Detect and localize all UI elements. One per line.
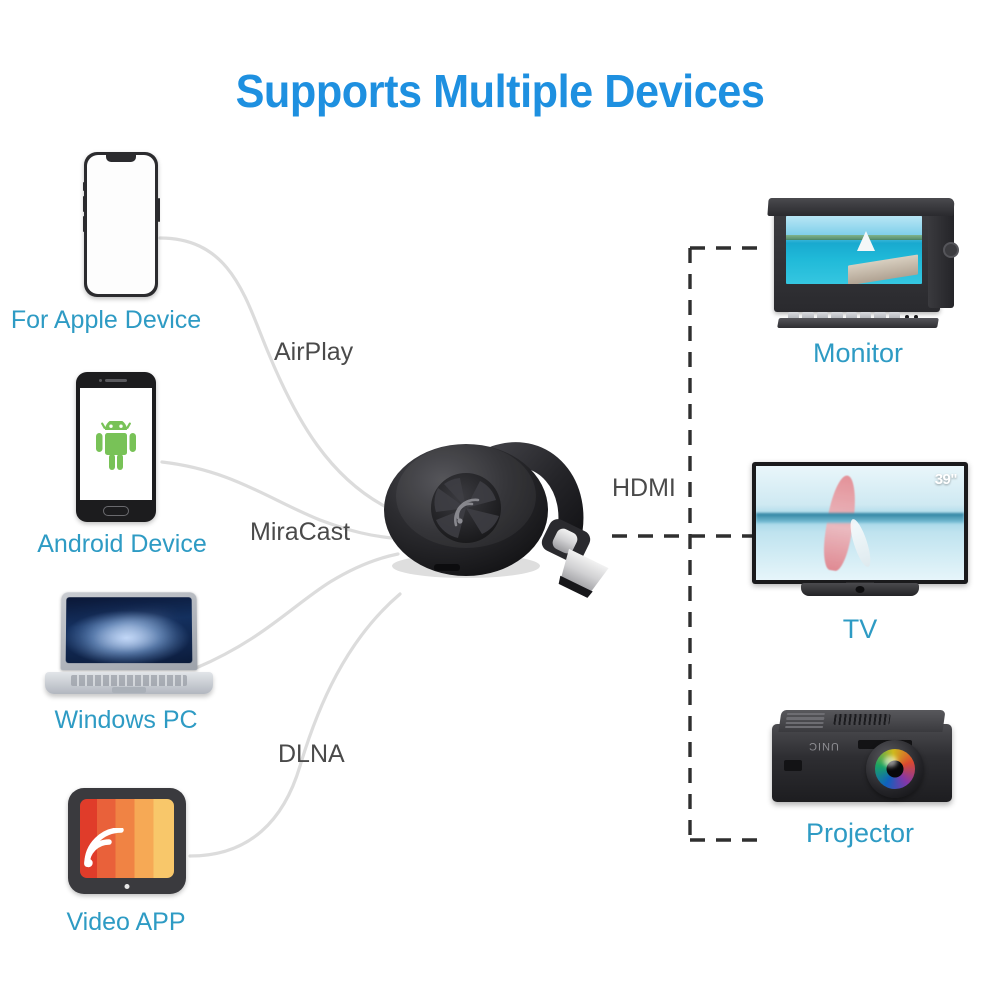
flat-tv-icon: 39" bbox=[752, 462, 968, 610]
tv-size-badge: 39" bbox=[935, 471, 957, 488]
device-label-tv: TV bbox=[752, 614, 968, 645]
device-label-android: Android Device bbox=[16, 530, 228, 559]
android-phone-icon bbox=[76, 372, 156, 522]
projector-brand: UNIC bbox=[808, 740, 839, 752]
mini-projector-icon: UNIC bbox=[772, 710, 952, 814]
protocol-label-miracast: MiraCast bbox=[250, 518, 350, 547]
android-robot-icon bbox=[93, 421, 139, 473]
cast-wifi-icon bbox=[83, 828, 127, 870]
device-label-videoapp: Video APP bbox=[20, 908, 232, 937]
iphone-icon bbox=[84, 152, 158, 297]
wireless-display-dongle bbox=[368, 428, 628, 610]
protocol-label-airplay: AirPlay bbox=[274, 338, 353, 367]
device-label-projector: Projector bbox=[752, 818, 968, 849]
dongle-usb-port bbox=[434, 564, 460, 571]
protocol-label-dlna: DLNA bbox=[278, 740, 345, 769]
laptop-icon bbox=[45, 592, 213, 700]
device-label-pc: Windows PC bbox=[20, 706, 232, 735]
dongle-aperture-emblem bbox=[431, 473, 501, 543]
device-label-apple: For Apple Device bbox=[0, 306, 212, 335]
tablet-cast-icon bbox=[68, 788, 186, 894]
car-monitor-icon bbox=[768, 198, 954, 328]
device-label-monitor: Monitor bbox=[758, 338, 958, 369]
